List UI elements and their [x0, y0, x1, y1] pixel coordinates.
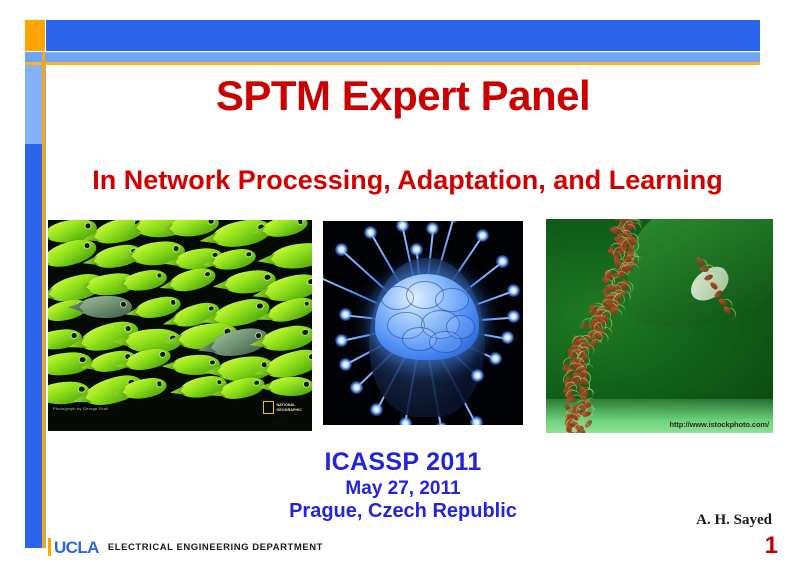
neural-node — [470, 416, 483, 425]
ant — [722, 305, 732, 315]
conference-info: ICASSP 2011 May 27, 2011 Prague, Czech R… — [46, 448, 760, 523]
neural-node — [399, 417, 412, 425]
header-light-blue-inner-line — [46, 52, 760, 53]
ant — [568, 398, 577, 403]
department-name: ELECTRICAL ENGINEERING DEPARTMENT — [108, 542, 323, 553]
neural-node — [335, 243, 348, 256]
page-title: SPTM Expert Panel — [46, 72, 760, 120]
conference-location: Prague, Czech Republic — [46, 500, 760, 522]
neural-node — [496, 255, 509, 268]
conference-name: ICASSP 2011 — [46, 448, 760, 476]
fish — [79, 296, 132, 318]
brain-fold — [435, 288, 468, 312]
author-name: A. H. Sayed — [696, 512, 772, 529]
conference-date: May 27, 2011 — [46, 478, 760, 499]
national-geographic-box-icon — [263, 401, 274, 414]
neural-node — [350, 381, 363, 394]
ucla-orange-tick-icon — [48, 538, 51, 556]
ucla-logo: UCLA — [48, 538, 99, 556]
left-border-light-blue — [25, 65, 42, 144]
neural-node — [476, 229, 489, 242]
header-orange-rule — [25, 62, 760, 65]
page-number: 1 — [765, 532, 778, 560]
ant-chain-photo: http://www.istockphoto.com/ — [546, 219, 773, 433]
ants-photo-credit: http://www.istockphoto.com/ — [669, 420, 769, 429]
footer: UCLA ELECTRICAL ENGINEERING DEPARTMENT — [48, 538, 323, 556]
neural-node — [507, 284, 520, 297]
left-border-blue — [25, 144, 42, 548]
header-light-blue-bar — [25, 52, 760, 62]
brain-fold — [429, 331, 462, 354]
header-blue-bar — [46, 20, 760, 51]
neural-node — [364, 226, 377, 239]
ant — [569, 431, 579, 433]
school-of-fish-photo: Photograph by George Grall NATIONALGEOGR… — [48, 220, 312, 431]
photo-row: Photograph by George Grall NATIONALGEOGR… — [46, 219, 776, 437]
national-geographic-logo: NATIONALGEOGRAPHIC — [263, 401, 302, 414]
page-subtitle: In Network Processing, Adaptation, and L… — [30, 165, 785, 196]
ant — [579, 322, 589, 330]
fish-photo-fineprint: . . . . . . . . . . . . — [272, 421, 294, 425]
header-orange-block — [25, 20, 45, 51]
fish-photo-credit: Photograph by George Grall — [53, 406, 108, 411]
presentation-slide: SPTM Expert Panel In Network Processing,… — [0, 0, 800, 565]
fish — [267, 376, 312, 396]
ucla-wordmark: UCLA — [54, 539, 99, 556]
neural-node — [335, 334, 348, 347]
national-geographic-wordmark: NATIONALGEOGRAPHIC — [276, 403, 302, 412]
neural-brain-photo — [323, 221, 523, 425]
neural-node — [339, 358, 352, 371]
